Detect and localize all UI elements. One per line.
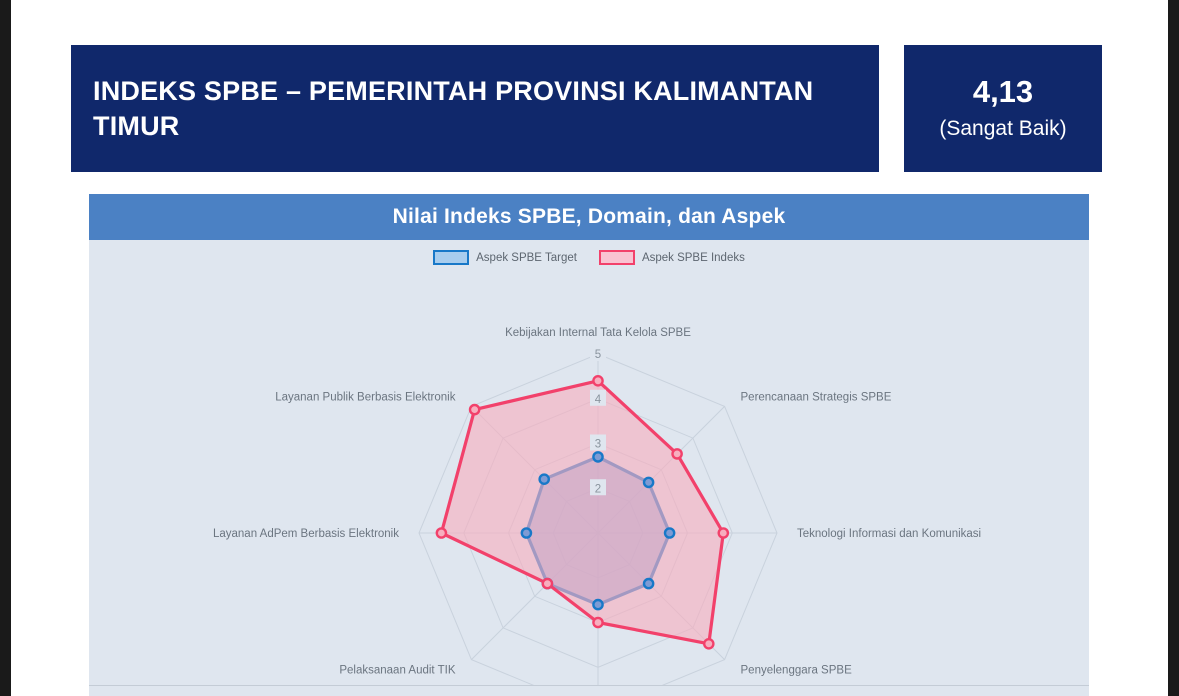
page-title-box: INDEKS SPBE – PEMERINTAH PROVINSI KALIMA… [71,45,879,172]
radar-point[interactable] [522,528,531,537]
chart-header: Nilai Indeks SPBE, Domain, dan Aspek [89,194,1089,240]
radar-point[interactable] [644,478,653,487]
radar-point[interactable] [470,405,479,414]
radar-axis-label: Pelaksanaan Audit TIK [339,665,455,677]
radar-point[interactable] [543,579,552,588]
radar-axis-label: Penyelenggara SPBE [741,665,853,677]
radial-tick-label: 3 [595,439,601,451]
radial-tick-label: 4 [595,394,602,406]
radar-axis-label: Perencanaan Strategis SPBE [741,392,892,404]
radar-point[interactable] [437,528,446,537]
radar-svg: 5432Kebijakan Internal Tata Kelola SPBEP… [89,240,1089,696]
chart-title: Nilai Indeks SPBE, Domain, dan Aspek [393,205,786,229]
radial-tick-label: 5 [595,349,601,361]
page-title: INDEKS SPBE – PEMERINTAH PROVINSI KALIMA… [71,74,879,143]
radar-axis-label: Layanan Publik Berbasis Elektronik [275,392,456,404]
score-badge: 4,13 (Sangat Baik) [904,45,1102,172]
radar-point[interactable] [719,528,728,537]
radar-axis-label: Layanan AdPem Berbasis Elektronik [213,528,399,540]
radar-point[interactable] [644,579,653,588]
radar-point[interactable] [540,475,549,484]
radar-point[interactable] [593,618,602,627]
radar-point[interactable] [673,449,682,458]
radar-point[interactable] [665,528,674,537]
radar-axis-label: Kebijakan Internal Tata Kelola SPBE [505,327,691,339]
chart-body: Aspek SPBE Target Aspek SPBE Indeks 5432… [89,240,1089,696]
score-label: (Sangat Baik) [939,115,1066,143]
radar-point[interactable] [593,452,602,461]
radar-chart: 5432Kebijakan Internal Tata Kelola SPBEP… [89,240,1089,696]
radar-series-indeks [441,381,723,644]
radar-axis-label: Teknologi Informasi dan Komunikasi [797,528,981,540]
radar-point[interactable] [593,376,602,385]
radial-tick-label: 2 [595,483,601,495]
radar-point[interactable] [593,600,602,609]
chart-card: Nilai Indeks SPBE, Domain, dan Aspek Asp… [89,194,1089,696]
card-bottom-divider [89,685,1089,696]
radar-point[interactable] [704,639,713,648]
slide: INDEKS SPBE – PEMERINTAH PROVINSI KALIMA… [11,0,1168,696]
score-value: 4,13 [973,74,1033,110]
